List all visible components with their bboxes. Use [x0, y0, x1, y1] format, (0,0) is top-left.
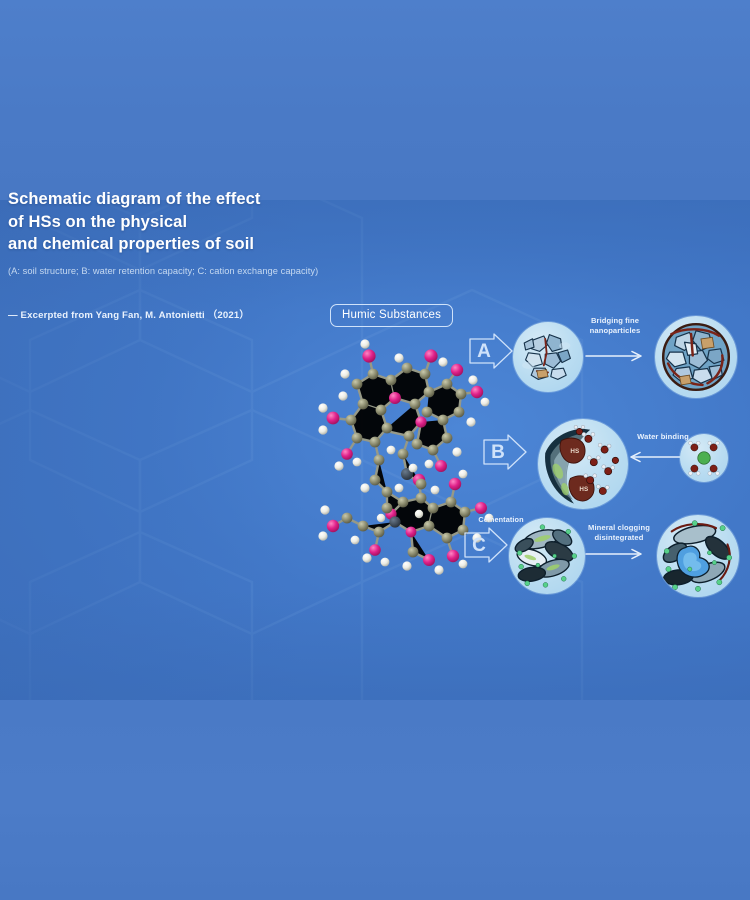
clogged-mineral-assembly-illustration: [509, 518, 585, 594]
hydrated-cation-circle: [680, 434, 728, 482]
disintegrated-mineral-circle: [657, 515, 739, 597]
humic-coated-mineral-illustration: HS HS: [538, 419, 628, 509]
humic-substances-molecule: [295, 322, 495, 612]
branch-tag-a-letter: A: [468, 333, 502, 369]
humic-mineral-water-circle: HS HS: [538, 419, 628, 509]
soil-particles-loose-circle: [513, 322, 583, 392]
poster-stage: Schematic diagram of the effect of HSs o…: [0, 0, 750, 900]
bridged-soil-aggregate-illustration: [655, 316, 737, 398]
bridging-arrow-right-icon: [586, 350, 648, 362]
page-title-line-3: and chemical properties of soil: [8, 233, 338, 256]
cementation-label: Cementation: [470, 515, 532, 525]
outer-bottom-band: [0, 700, 750, 900]
bridging-connector-label: Bridging fine nanoparticles: [578, 316, 652, 335]
branch-tag-c: C: [463, 527, 509, 563]
source-attribution: — Excerpted from Yang Fan, M. Antonietti…: [8, 307, 338, 321]
mineral-clogging-connector-label: Mineral clogging disintegrated: [577, 523, 661, 542]
hydrated-cation-illustration: [680, 434, 728, 482]
branch-tag-c-letter: C: [463, 527, 497, 563]
mineral-clogging-arrow-right-icon: [586, 548, 648, 560]
water-binding-arrow-left-icon: [630, 451, 680, 463]
soil-aggregate-bridged-circle: [655, 316, 737, 398]
page-title-line-2: of HSs on the physical: [8, 211, 338, 234]
branch-tag-a: A: [468, 333, 514, 369]
loose-soil-particles-illustration: [513, 322, 583, 392]
outer-top-band: [0, 0, 750, 200]
title-block: Schematic diagram of the effect of HSs o…: [8, 188, 338, 321]
hs-badge-top: HS: [570, 448, 579, 455]
clogged-mineral-circle: [509, 518, 585, 594]
disintegrated-porous-assembly-illustration: [657, 515, 739, 597]
branch-tag-b-letter: B: [482, 434, 516, 470]
page-title-line-1: Schematic diagram of the effect: [8, 188, 338, 211]
page-subtitle: (A: soil structure; B: water retention c…: [8, 265, 338, 278]
hs-badge-bottom: HS: [579, 486, 588, 493]
branch-tag-b: B: [482, 434, 528, 470]
